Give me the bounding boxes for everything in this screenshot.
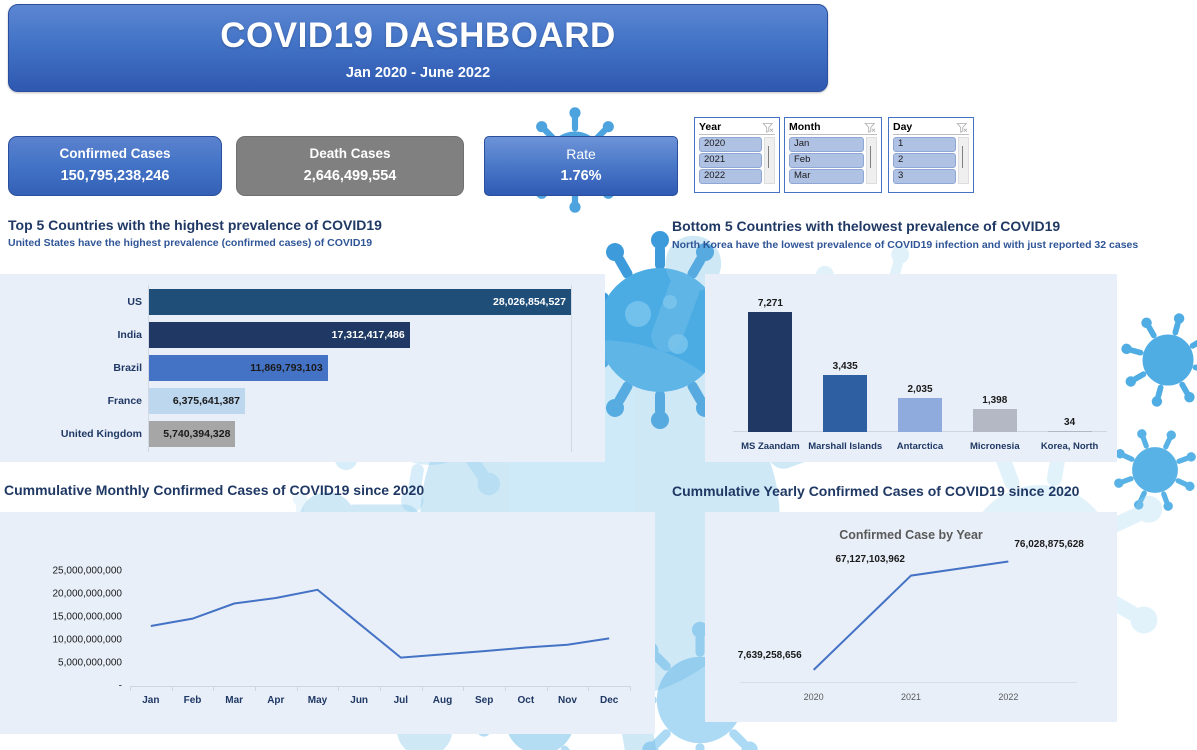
page-title: COVID19 DASHBOARD (220, 16, 616, 56)
column-bar (1048, 431, 1092, 432)
column-bar (823, 375, 867, 432)
chart-plot-area: 25,000,000,00020,000,000,00015,000,000,0… (0, 512, 655, 734)
clear-filter-icon[interactable] (762, 121, 775, 133)
chart-plot-area: 7,271MS Zaandam3,435Marshall Islands2,03… (705, 274, 1117, 462)
x-axis-tick-label: Mar (225, 695, 243, 706)
bar-fill: 5,740,394,328 (149, 421, 235, 447)
x-axis-tick-label: Feb (184, 695, 202, 706)
bar-category-label: Marshall Islands (808, 441, 883, 452)
kpi-label: Rate (566, 144, 596, 165)
bar-row: US28,026,854,527 (149, 289, 571, 315)
slicer-item[interactable]: Mar (789, 169, 864, 184)
kpi-card-death-cases: Death Cases 2,646,499,554 (236, 136, 464, 196)
line-series (0, 512, 655, 734)
x-axis-tick-label: Oct (517, 695, 534, 706)
column-bar-group: 2,035 (898, 384, 942, 432)
kpi-value: 1.76% (560, 165, 601, 188)
scrollbar-thumb[interactable] (768, 146, 769, 168)
x-axis-tick-label: Jul (394, 695, 408, 706)
slicer-item[interactable]: Feb (789, 153, 864, 168)
dashboard-header: COVID19 DASHBOARD Jan 2020 - June 2022 (8, 4, 828, 92)
slicer-scrollbar[interactable] (958, 137, 969, 184)
x-axis-tick-label: Nov (558, 695, 577, 706)
bar-value-label: 17,312,417,486 (332, 329, 410, 341)
data-point-label: 67,127,103,962 (835, 554, 905, 565)
section-title-top5: Top 5 Countries with the highest prevale… (8, 217, 382, 233)
bar-category-label: United Kingdom (61, 428, 149, 440)
bar-fill: 11,869,793,103 (149, 355, 328, 381)
x-axis-tick-label: 2021 (901, 692, 921, 702)
chart-bottom5-countries: 7,271MS Zaandam3,435Marshall Islands2,03… (705, 274, 1117, 462)
slicer-body: 1 2 3 (893, 137, 969, 184)
bar-category-label: Antarctica (883, 441, 958, 452)
bar-category-label: Brazil (113, 362, 149, 374)
bar-category-label: MS Zaandam (733, 441, 808, 452)
chart-monthly-cumulative: 25,000,000,00020,000,000,00015,000,000,0… (0, 512, 655, 734)
bar-value-label: 34 (1064, 417, 1075, 428)
bar-row: Brazil11,869,793,103 (149, 355, 571, 381)
kpi-label: Confirmed Cases (59, 144, 170, 164)
slicer-title: Year (699, 121, 721, 133)
column-bar (748, 312, 792, 432)
slicer-item[interactable]: Jan (789, 137, 864, 152)
kpi-value: 150,795,238,246 (61, 165, 170, 188)
slicer-scrollbar[interactable] (866, 137, 877, 184)
kpi-label: Death Cases (309, 144, 390, 164)
slicer-item[interactable]: 2022 (699, 169, 762, 184)
bar-value-label: 3,435 (833, 361, 858, 372)
bar-fill: 28,026,854,527 (149, 289, 571, 315)
data-point-label: 76,028,875,628 (1014, 539, 1084, 550)
x-axis-tick-label: Jan (142, 695, 159, 706)
column-bar-group: 3,435 (823, 361, 867, 432)
section-subtitle-top5: United States have the highest prevalenc… (8, 237, 372, 249)
bar-category-label: France (108, 395, 149, 407)
slicer-item[interactable]: 3 (893, 169, 956, 184)
x-axis-tick-label: 2020 (804, 692, 824, 702)
chart-plot-area: US28,026,854,527India17,312,417,486Brazi… (148, 285, 572, 452)
bar-category-label: Micronesia (957, 441, 1032, 452)
slicer-item-list: 2020 2021 2022 (699, 137, 762, 184)
data-point-label: 7,639,258,656 (738, 650, 802, 661)
bar-row: United Kingdom5,740,394,328 (149, 421, 571, 447)
bar-value-label: 2,035 (907, 384, 932, 395)
slicer-item-list: Jan Feb Mar (789, 137, 864, 184)
x-axis-tick-label: Dec (600, 695, 618, 706)
clear-filter-icon[interactable] (956, 121, 969, 133)
slicer-title: Day (893, 121, 912, 133)
section-title-monthly: Cummulative Monthly Confirmed Cases of C… (4, 482, 424, 498)
column-bar (973, 409, 1017, 432)
bar-category-label: India (117, 329, 149, 341)
section-title-bottom5: Bottom 5 Countries with thelowest preval… (672, 218, 1060, 234)
slicer-scrollbar[interactable] (764, 137, 775, 184)
bar-row: India17,312,417,486 (149, 322, 571, 348)
x-axis-tick-label: Jun (350, 695, 368, 706)
bar-value-label: 5,740,394,328 (163, 428, 235, 440)
chart-yearly-cumulative: Confirmed Case by Year 7,639,258,65667,1… (705, 512, 1117, 722)
page-subtitle: Jan 2020 - June 2022 (346, 65, 490, 81)
slicer-header: Month (789, 121, 877, 135)
column-bar (898, 398, 942, 432)
slicer-item[interactable]: 2021 (699, 153, 762, 168)
slicer-title: Month (789, 121, 821, 133)
section-title-yearly: Cummulative Yearly Confirmed Cases of CO… (672, 483, 1079, 499)
slicer-item-list: 1 2 3 (893, 137, 956, 184)
column-bar-group: 7,271 (748, 298, 792, 432)
bar-fill: 17,312,417,486 (149, 322, 410, 348)
slicer-item[interactable]: 1 (893, 137, 956, 152)
bar-category-label: US (127, 296, 149, 308)
chart-plot-area: 7,639,258,65667,127,103,96276,028,875,62… (705, 512, 1117, 722)
x-axis-tick-label: Apr (267, 695, 284, 706)
bar-value-label: 11,869,793,103 (250, 362, 327, 374)
column-bar-group: 1,398 (973, 395, 1017, 432)
kpi-card-confirmed-cases: Confirmed Cases 150,795,238,246 (8, 136, 222, 196)
slicer-body: Jan Feb Mar (789, 137, 877, 184)
slicer-header: Year (699, 121, 775, 135)
slicer-year[interactable]: Year 2020 2021 2022 (694, 117, 780, 193)
slicer-month[interactable]: Month Jan Feb Mar (784, 117, 882, 193)
clear-filter-icon[interactable] (864, 121, 877, 133)
slicer-item[interactable]: 2020 (699, 137, 762, 152)
x-axis-tick-label: Sep (475, 695, 493, 706)
bar-value-label: 6,375,641,387 (173, 395, 245, 407)
slicer-body: 2020 2021 2022 (699, 137, 775, 184)
kpi-value: 2,646,499,554 (304, 165, 397, 188)
x-axis-tick-label: Aug (433, 695, 452, 706)
column-bar-group: 34 (1048, 417, 1092, 432)
bar-value-label: 1,398 (982, 395, 1007, 406)
bar-row: France6,375,641,387 (149, 388, 571, 414)
x-axis-tick-label: May (308, 695, 327, 706)
bar-category-label: Korea, North (1032, 441, 1107, 452)
x-axis-tick-label: 2022 (998, 692, 1018, 702)
bar-value-label: 7,271 (758, 298, 783, 309)
kpi-card-rate: Rate 1.76% (484, 136, 678, 196)
bar-value-label: 28,026,854,527 (493, 296, 571, 308)
bar-fill: 6,375,641,387 (149, 388, 245, 414)
scrollbar-thumb[interactable] (870, 146, 871, 168)
slicer-item[interactable]: 2 (893, 153, 956, 168)
slicer-header: Day (893, 121, 969, 135)
slicer-day[interactable]: Day 1 2 3 (888, 117, 974, 193)
chart-top5-countries: US28,026,854,527India17,312,417,486Brazi… (0, 274, 605, 462)
section-subtitle-bottom5: North Korea have the lowest prevalence o… (672, 239, 1138, 251)
scrollbar-thumb[interactable] (962, 146, 963, 168)
